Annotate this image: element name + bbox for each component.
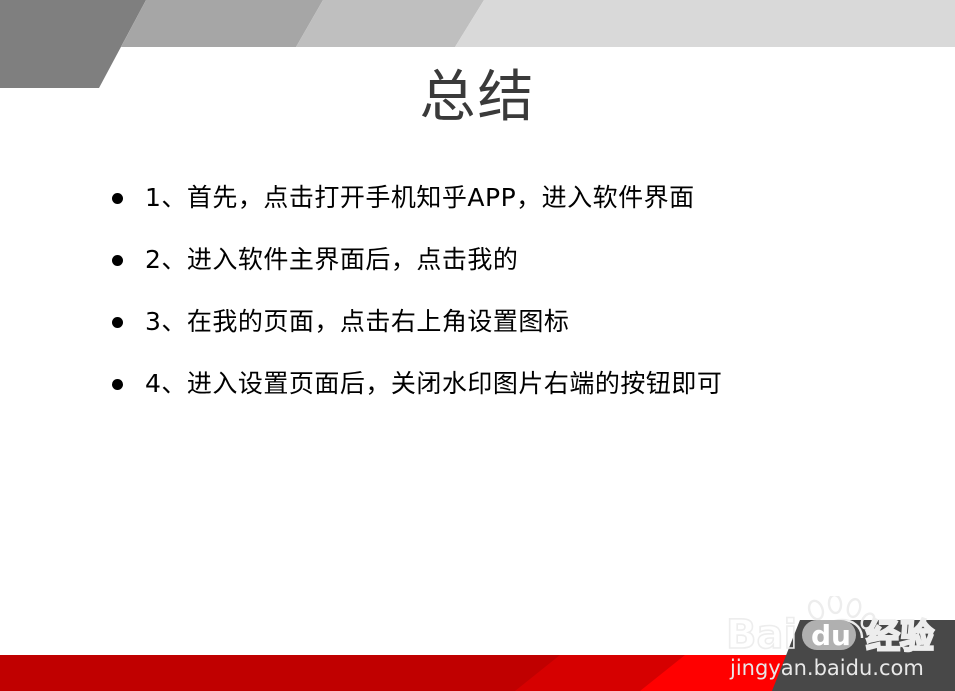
page-title: 总结 <box>0 66 955 130</box>
list-item-label: 2、进入软件主界面后，点击我的 <box>145 244 912 276</box>
bullet-dot-icon <box>112 193 123 204</box>
list-item: 4、进入设置页面后，关闭水印图片右端的按钮即可 <box>112 368 912 430</box>
bullet-dot-icon <box>112 379 123 390</box>
footer-decoration <box>0 600 955 691</box>
bullet-dot-icon <box>112 255 123 266</box>
bullet-list: 1、首先，点击打开手机知乎APP，进入软件界面 2、进入软件主界面后，点击我的 … <box>112 182 912 430</box>
list-item: 1、首先，点击打开手机知乎APP，进入软件界面 <box>112 182 912 244</box>
list-item-label: 4、进入设置页面后，关闭水印图片右端的按钮即可 <box>145 368 912 400</box>
list-item: 2、进入软件主界面后，点击我的 <box>112 244 912 306</box>
list-item-label: 1、首先，点击打开手机知乎APP，进入软件界面 <box>145 182 912 214</box>
list-item-label: 3、在我的页面，点击右上角设置图标 <box>145 306 912 338</box>
bullet-dot-icon <box>112 317 123 328</box>
presentation-slide: 总结 1、首先，点击打开手机知乎APP，进入软件界面 2、进入软件主界面后，点击… <box>0 0 955 691</box>
list-item: 3、在我的页面，点击右上角设置图标 <box>112 306 912 368</box>
